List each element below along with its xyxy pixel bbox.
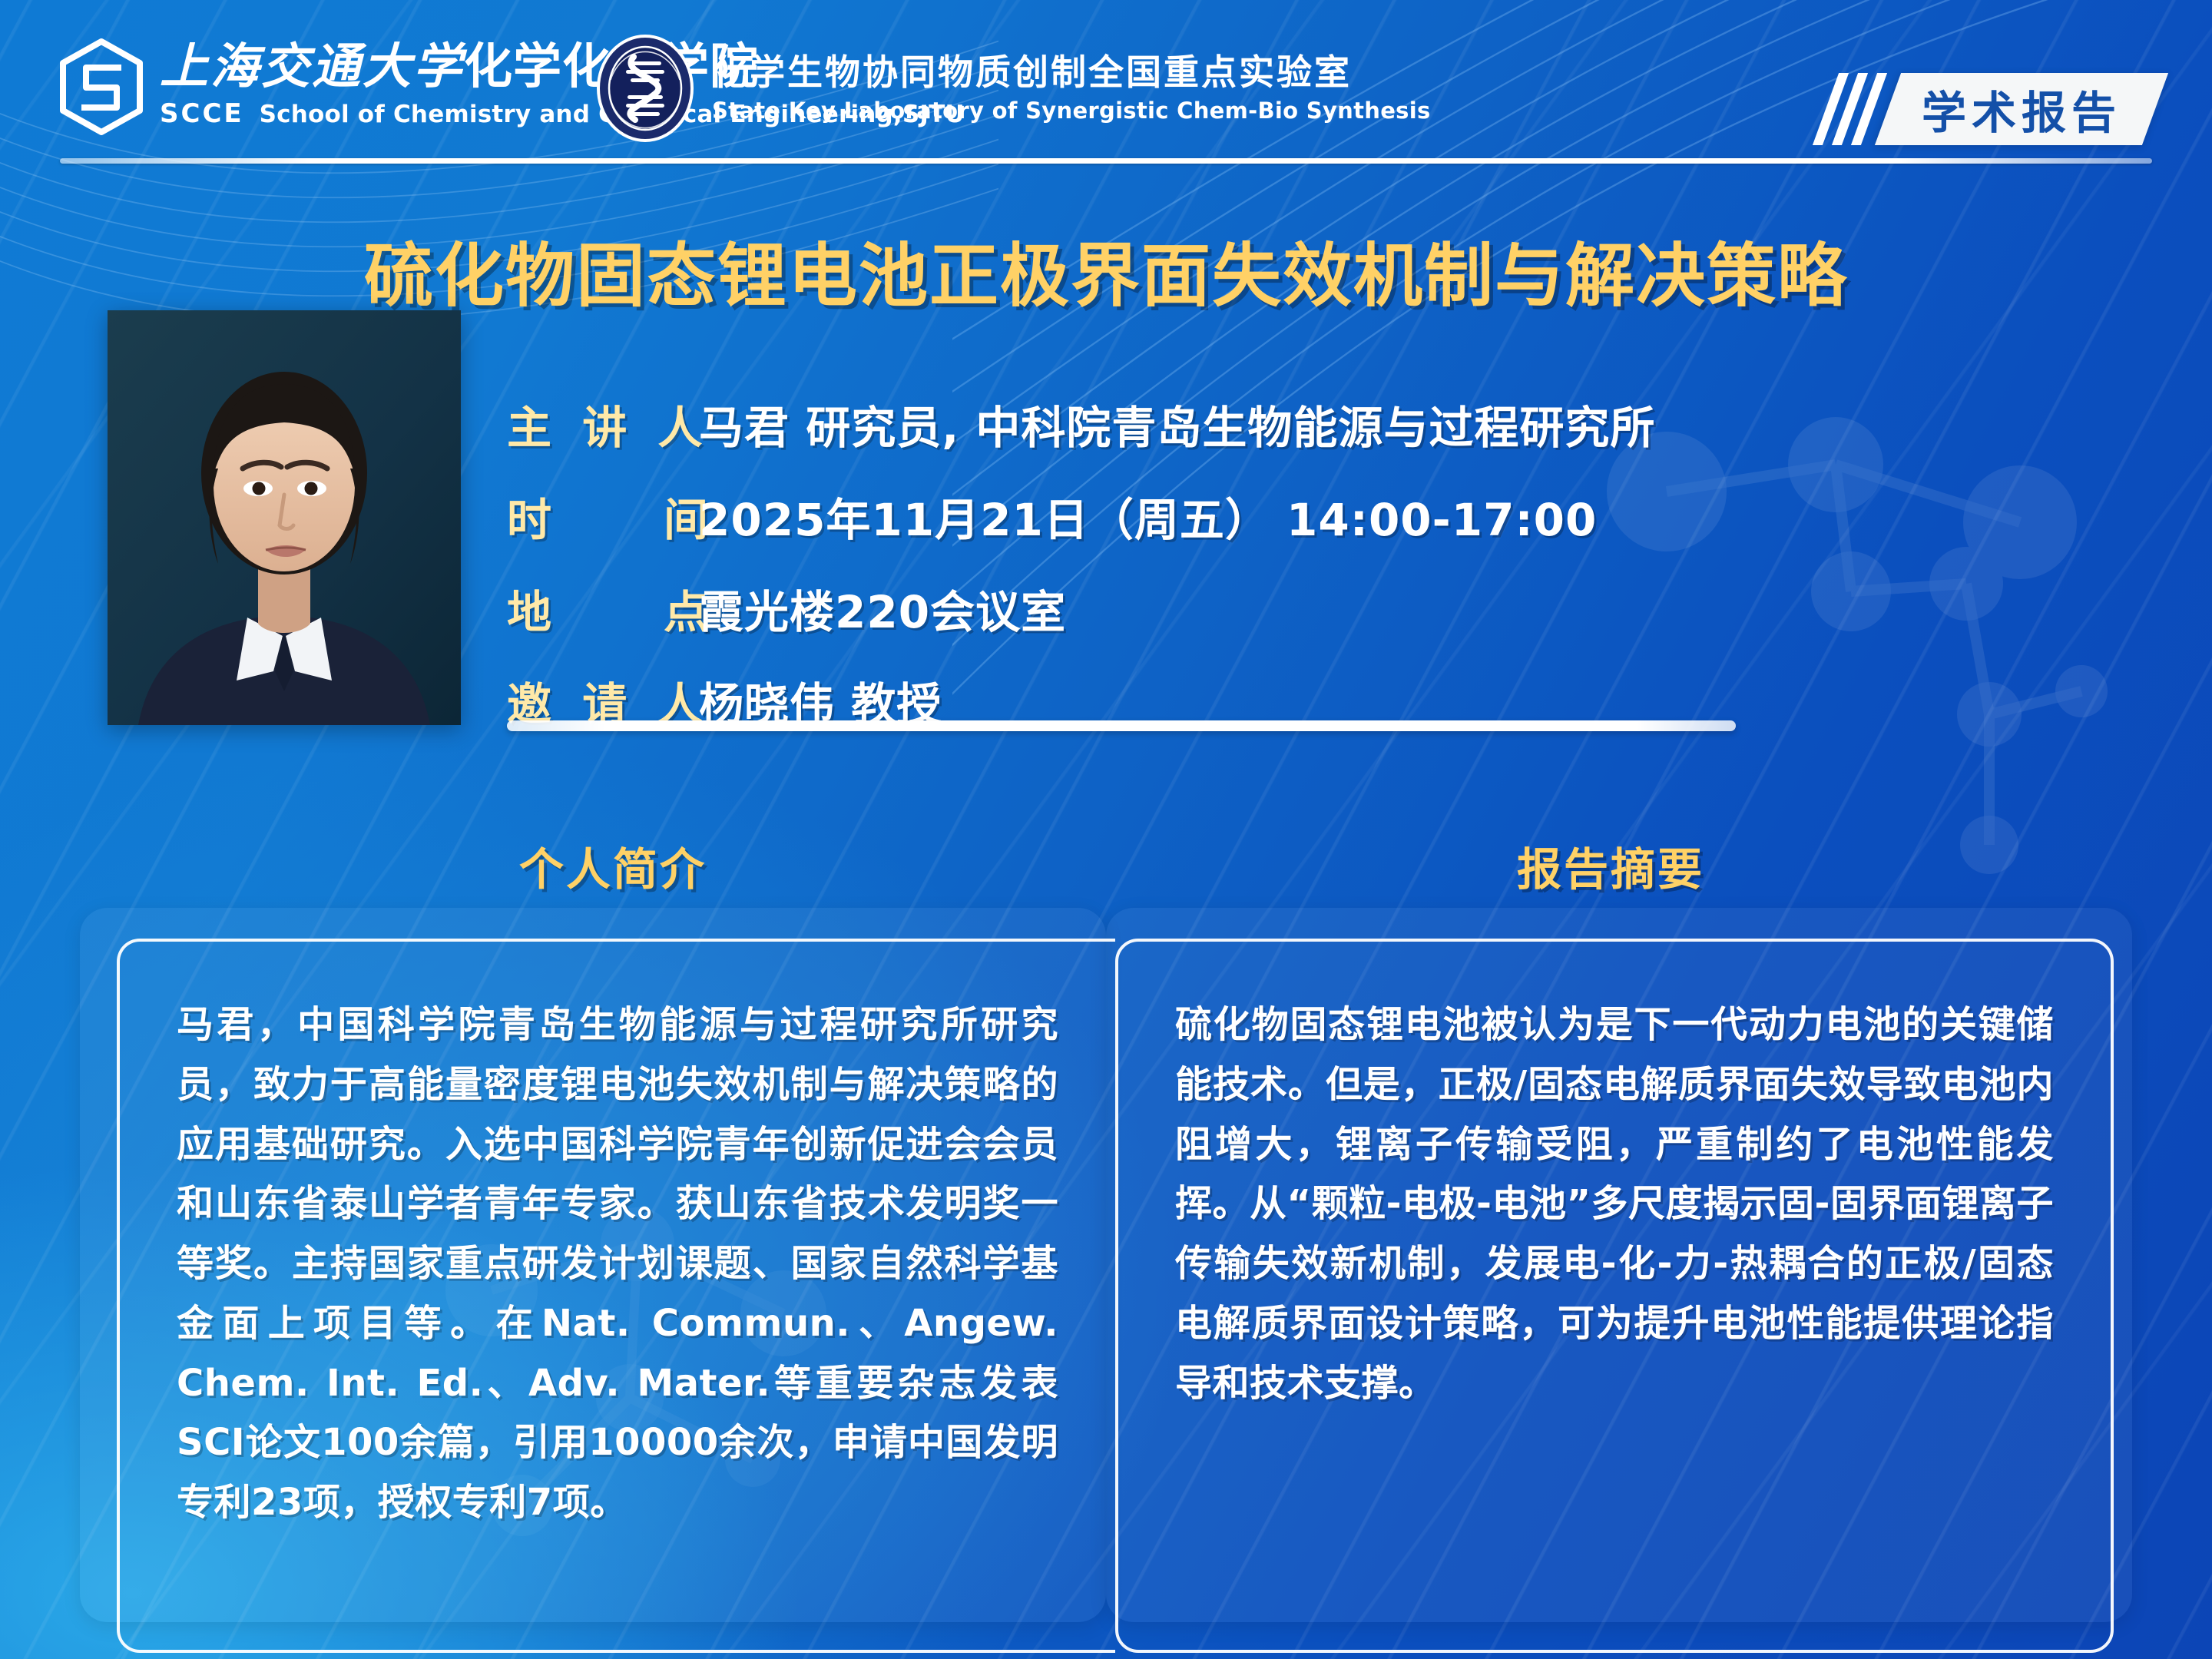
bio-text: 马君，中国科学院青岛生物能源与过程研究所研究员，致力于高能量密度锂电池失效机制与… [177, 995, 1058, 1533]
scce-abbreviation: SCCE [160, 98, 244, 129]
state-key-lab-group: 化学生物协同物质创制全国重点实验室 State Key Laboratory o… [595, 34, 1431, 143]
info-row-speaker: 主 讲 人 马君 研究员, 中科院青岛生物能源与过程研究所 [507, 392, 1655, 456]
speaker-portrait-photo [108, 310, 461, 725]
lab-name-en: State Key Laboratory of Synergistic Chem… [712, 98, 1431, 124]
info-row-time: 时 间 2025年11月21日（周五） 14:00-17:00 [507, 484, 1655, 548]
badge-label: 学术报告 [1922, 77, 2121, 141]
info-label-time: 时 间 [507, 484, 699, 548]
info-value-time: 2025年11月21日（周五） 14:00-17:00 [699, 484, 1597, 548]
lab-seal-logo-icon [595, 34, 695, 143]
lab-name-cn: 化学生物协同物质创制全国重点实验室 [712, 53, 1431, 92]
portrait-illustration-icon [108, 310, 461, 725]
info-label-location: 地 点 [507, 576, 699, 641]
badge-diagonal-stripes-icon [1826, 73, 1883, 145]
scce-hexagon-logo-icon [55, 37, 147, 137]
bio-section-heading: 个人简介 [519, 833, 707, 898]
info-divider-bar [507, 720, 1736, 731]
event-info-block: 主 讲 人 马君 研究员, 中科院青岛生物能源与过程研究所 时 间 2025年1… [507, 392, 1655, 760]
academic-report-badge: 学术报告 [1826, 73, 2155, 145]
info-row-location: 地 点 霞光楼220会议室 [507, 576, 1655, 641]
badge-panel: 学术报告 [1875, 73, 2168, 145]
info-value-speaker: 马君 研究员, 中科院青岛生物能源与过程研究所 [699, 392, 1655, 456]
info-value-location: 霞光楼220会议室 [699, 576, 1066, 641]
university-name-cn: 上海交通大学 [160, 38, 464, 94]
page-title: 硫化物固态锂电池正极界面失效机制与解决策略 [0, 220, 2212, 320]
abstract-text: 硫化物固态锂电池被认为是下一代动力电池的关键储能技术。但是，正极/固态电解质界面… [1175, 995, 2054, 1413]
abstract-section-heading: 报告摘要 [1517, 833, 1704, 898]
abstract-panel: 硫化物固态锂电池被认为是下一代动力电池的关键储能技术。但是，正极/固态电解质界面… [1115, 939, 2114, 1653]
poster-header: 上海交通大学化学化工学院 SCCE School of Chemistry an… [0, 0, 2212, 178]
bio-panel: 马君，中国科学院青岛生物能源与过程研究所研究员，致力于高能量密度锂电池失效机制与… [117, 939, 1115, 1653]
header-divider-line [60, 158, 2152, 164]
info-label-speaker: 主 讲 人 [507, 392, 699, 456]
